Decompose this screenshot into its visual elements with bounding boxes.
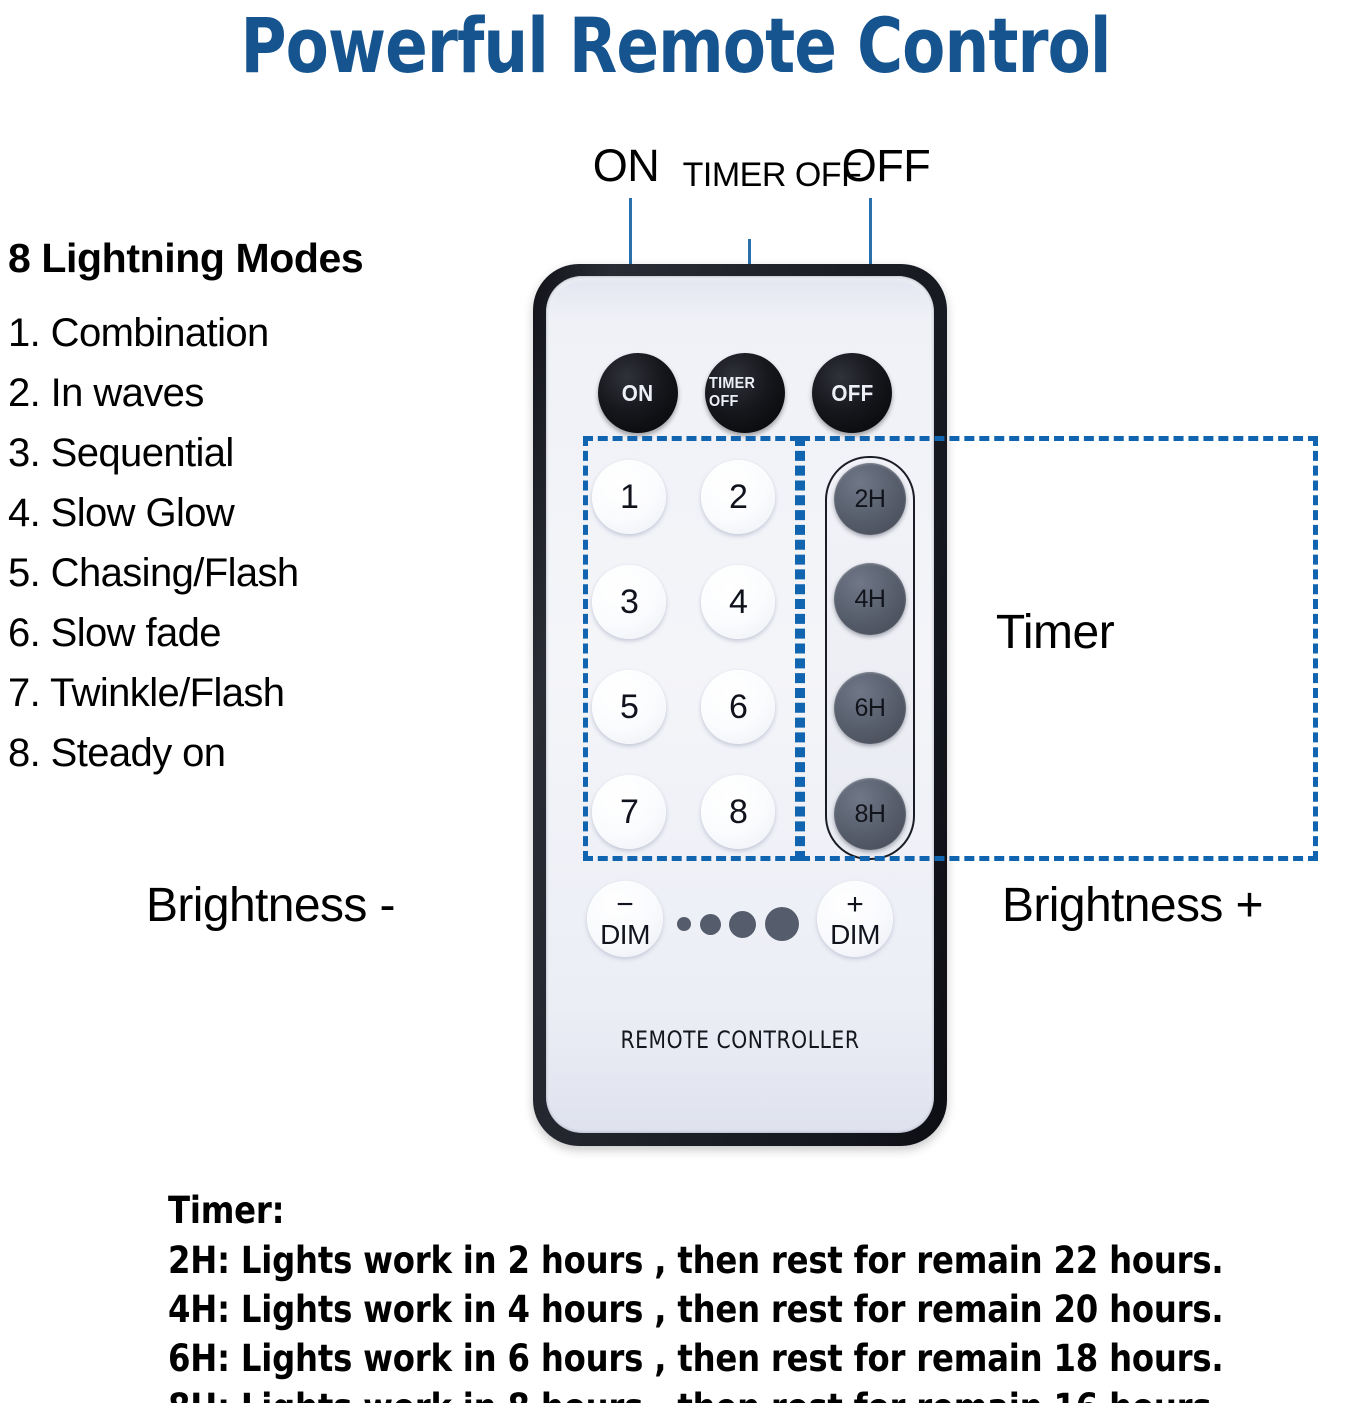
brightness-dot-4 [765,907,799,941]
brightness-dot-3 [729,911,756,938]
timer-description-line: 6H: Lights work in 6 hours , then rest f… [168,1334,1254,1383]
timer-description-line: 8H: Lights work in 8 hours , then rest f… [168,1383,1254,1403]
timer-description-block: Timer: 2H: Lights work in 2 hours , then… [168,1186,1254,1403]
plus-icon: + [846,890,864,920]
remote-button-dim-down[interactable]: − DIM [587,881,663,957]
brightness-indicator-dots [677,904,799,944]
timer-description-title: Timer: [168,1186,1254,1236]
remote-button-on-label: ON [622,380,654,407]
dim-down-label: DIM [600,921,650,949]
list-item: 7. Twinkle/Flash [8,663,508,723]
remote-button-dim-up[interactable]: + DIM [817,881,893,957]
annotation-label-brightness-plus: Brightness + [1002,878,1263,933]
remote-button-timer-off-label: TIMER OFF [709,375,781,411]
list-item: 6. Slow fade [8,603,508,663]
remote-brand-text: REMOTE CONTROLLER [558,1026,923,1054]
list-item: 4. Slow Glow [8,483,508,543]
modes-heading: 8 Lightning Modes [8,234,363,282]
annotation-label-timer: Timer [900,605,1210,660]
infographic-page: Powerful Remote Control 8 Lightning Mode… [0,0,1351,1403]
list-item: 5. Chasing/Flash [8,543,508,603]
list-item: 2. In waves [8,363,508,423]
dim-up-label: DIM [830,921,880,949]
timer-description-line: 2H: Lights work in 2 hours , then rest f… [168,1236,1254,1285]
annotation-label-brightness-minus: Brightness - [146,878,395,933]
brightness-dot-1 [677,917,691,931]
minus-icon: − [616,890,634,920]
page-title: Powerful Remote Control [54,2,1297,90]
remote-button-on[interactable]: ON [598,353,678,433]
remote-button-timer-off[interactable]: TIMER OFF [705,353,785,433]
remote-button-off[interactable]: OFF [812,353,892,433]
list-item: 8. Steady on [8,723,508,783]
modes-list: 1. Combination 2. In waves 3. Sequential… [8,303,508,783]
list-item: 3. Sequential [8,423,508,483]
brightness-dot-2 [700,914,721,935]
timer-description-line: 4H: Lights work in 4 hours , then rest f… [168,1285,1254,1334]
annotation-box-modes [583,436,800,861]
remote-button-off-label: OFF [831,380,873,407]
callout-label-off: OFF [806,142,966,189]
list-item: 1. Combination [8,303,508,363]
